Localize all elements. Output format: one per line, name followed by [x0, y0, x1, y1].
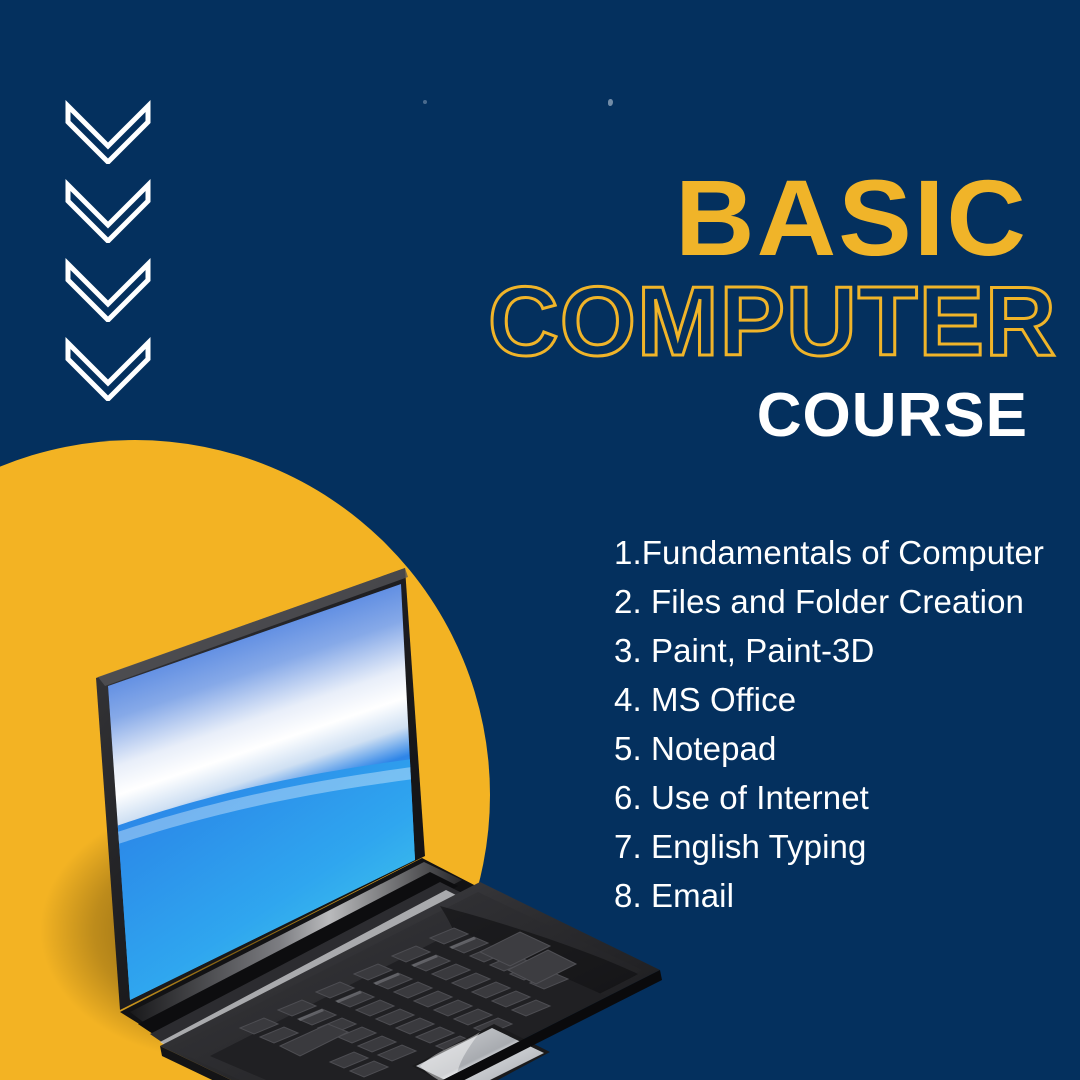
poster-canvas: BASIC COMPUTER COURSE 1.Fundamentals of … — [0, 0, 1080, 1080]
sparkle-dot-icon — [608, 99, 613, 106]
list-item: 2. Files and Folder Creation — [614, 577, 1054, 626]
list-item: 8. Email — [614, 871, 1054, 920]
headline-block: BASIC COMPUTER COURSE — [488, 168, 1028, 448]
chevron-stack — [62, 98, 162, 398]
chevron-down-icon — [62, 98, 154, 164]
title-line-basic: BASIC — [477, 168, 1028, 267]
open-laptop-illustration — [10, 500, 670, 1080]
title-line-course: COURSE — [488, 383, 1028, 448]
chevron-down-icon — [62, 256, 154, 322]
list-item: 6. Use of Internet — [614, 773, 1054, 822]
chevron-down-icon — [62, 177, 154, 243]
title-line-computer: COMPUTER — [488, 271, 1028, 373]
list-item: 4. MS Office — [614, 675, 1054, 724]
sparkle-dot-icon — [423, 100, 427, 104]
list-item: 7. English Typing — [614, 822, 1054, 871]
list-item: 3. Paint, Paint-3D — [614, 626, 1054, 675]
course-topic-list: 1.Fundamentals of Computer 2. Files and … — [614, 528, 1054, 920]
list-item: 1.Fundamentals of Computer — [614, 528, 1054, 577]
chevron-down-icon — [62, 335, 154, 401]
list-item: 5. Notepad — [614, 724, 1054, 773]
